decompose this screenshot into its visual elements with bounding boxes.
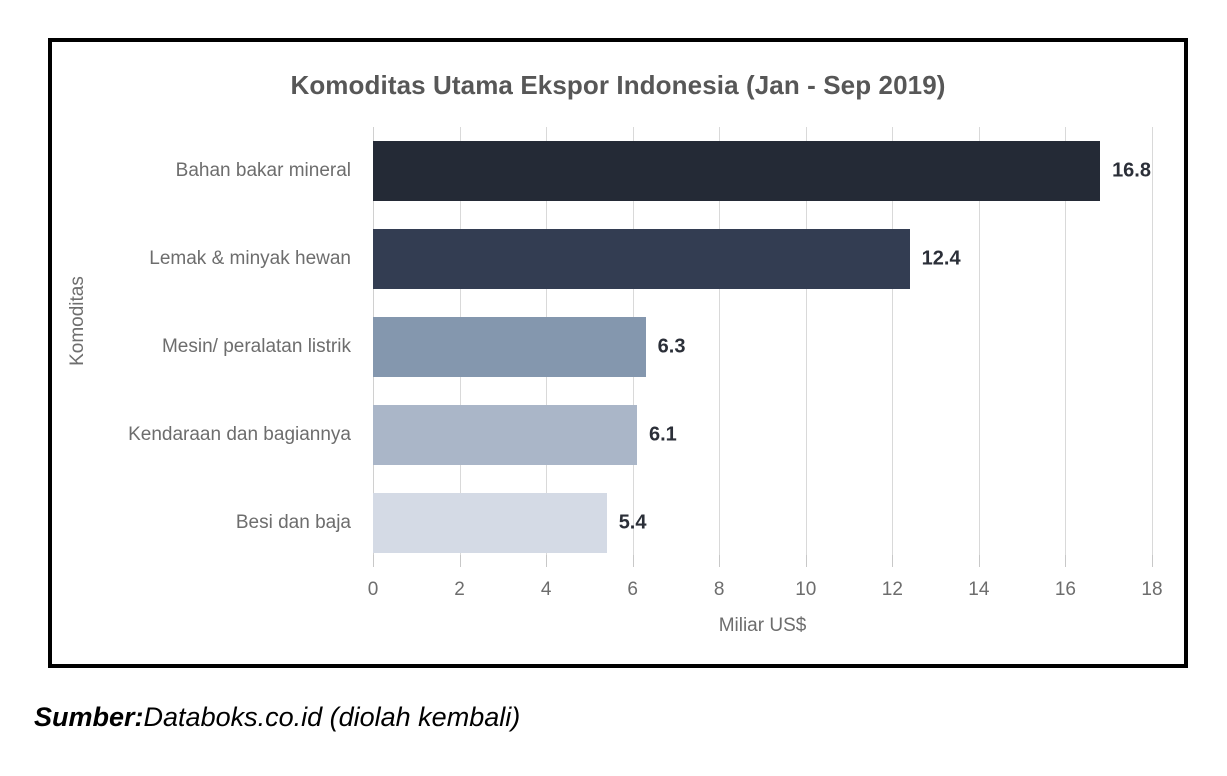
tick-mark-10: [806, 555, 807, 567]
x-tick-label: 12: [882, 579, 903, 601]
tick-mark-14: [979, 555, 980, 567]
tick-mark-18: [1152, 555, 1153, 567]
tick-mark-6: [633, 555, 634, 567]
bar-row: Lemak & minyak hewan12.4: [373, 215, 1152, 303]
tick-mark-8: [719, 555, 720, 567]
x-tick-label: 2: [454, 579, 465, 601]
bar-value-label: 6.3: [658, 336, 686, 359]
bar-row: Kendaraan dan bagiannya6.1: [373, 391, 1152, 479]
category-label: Bahan bakar mineral: [176, 160, 351, 182]
category-label: Kendaraan dan bagiannya: [128, 424, 351, 446]
bar-row: Besi dan baja5.4: [373, 479, 1152, 567]
bar: [373, 141, 1100, 201]
x-axis-title: Miliar US$: [373, 615, 1152, 637]
x-tick-label: 14: [968, 579, 989, 601]
x-tick-label: 10: [795, 579, 816, 601]
category-label: Besi dan baja: [236, 512, 351, 534]
chart-card: Komoditas Utama Ekspor Indonesia (Jan - …: [48, 38, 1188, 668]
bar-value-label: 5.4: [619, 512, 647, 535]
bar-value-label: 6.1: [649, 424, 677, 447]
x-tick-label: 0: [368, 579, 379, 601]
bar: [373, 229, 910, 289]
y-axis-title: Komoditas: [67, 251, 89, 391]
tick-mark-12: [892, 555, 893, 567]
x-tick-label: 18: [1141, 579, 1162, 601]
category-label: Mesin/ peralatan listrik: [162, 336, 351, 358]
bar-row: Mesin/ peralatan listrik6.3: [373, 303, 1152, 391]
bar-value-label: 12.4: [922, 248, 961, 271]
gridline-18: [1152, 127, 1153, 567]
x-tick-label: 4: [541, 579, 552, 601]
tick-mark-4: [546, 555, 547, 567]
x-tick-label: 8: [714, 579, 725, 601]
category-label: Lemak & minyak hewan: [149, 248, 351, 270]
bar-row: Bahan bakar mineral16.8: [373, 127, 1152, 215]
tick-mark-16: [1065, 555, 1066, 567]
source-text: Databoks.co.id (diolah kembali): [144, 702, 521, 732]
x-axis: 024681012141618 Miliar US$: [373, 567, 1152, 637]
x-tick-label: 6: [627, 579, 638, 601]
source-label: Sumber:: [34, 702, 144, 732]
bar: [373, 405, 637, 465]
plot-area: Bahan bakar mineral16.8Lemak & minyak he…: [373, 127, 1152, 567]
source-caption: Sumber:Databoks.co.id (diolah kembali): [34, 702, 520, 733]
x-tick-label: 16: [1055, 579, 1076, 601]
tick-mark-0: [373, 555, 374, 567]
bar: [373, 317, 646, 377]
chart-title: Komoditas Utama Ekspor Indonesia (Jan - …: [52, 70, 1184, 101]
bar: [373, 493, 607, 553]
tick-mark-2: [460, 555, 461, 567]
bar-value-label: 16.8: [1112, 160, 1151, 183]
